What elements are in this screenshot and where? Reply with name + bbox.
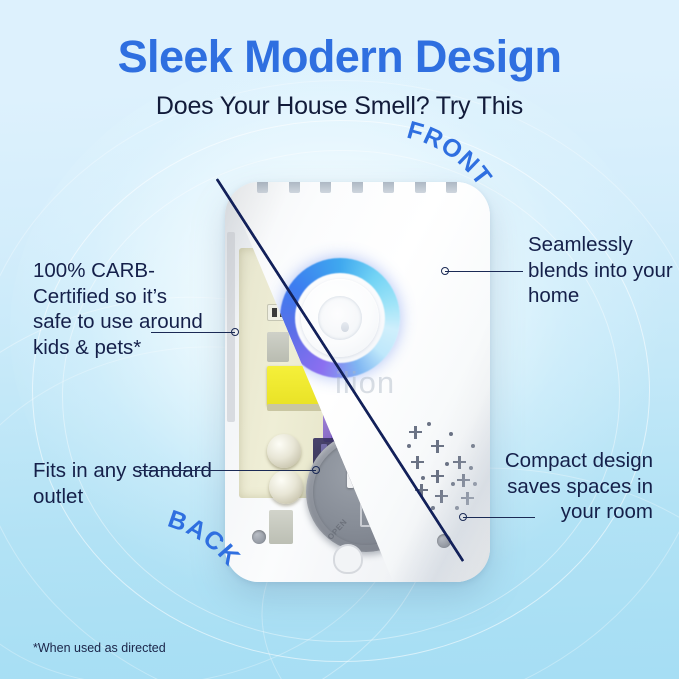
leader-dot-outlet xyxy=(312,466,320,474)
vent-slot xyxy=(352,182,363,193)
infographic-canvas: Sleek Modern Design Does Your House Smel… xyxy=(0,0,679,679)
resistor-block xyxy=(267,332,289,362)
vent-slot xyxy=(257,182,268,193)
transformer-base xyxy=(267,404,325,411)
callout-blends-into-home: Seamlessly blends into your home xyxy=(528,232,673,309)
label-back: BACK xyxy=(150,500,340,679)
leader-line-compact xyxy=(463,517,535,518)
svg-text:BACK: BACK xyxy=(164,505,245,572)
leader-line-carb xyxy=(151,332,235,333)
leader-line-outlet xyxy=(139,470,316,471)
footnote: *When used as directed xyxy=(33,641,166,655)
capacitor-large-1 xyxy=(267,434,301,468)
vent-slot xyxy=(320,182,331,193)
leader-dot-carb xyxy=(231,328,239,336)
vent-slot xyxy=(289,182,300,193)
callout-carb-certified: 100% CARB-Certified so it’s safe to use … xyxy=(33,258,208,360)
page-subtitle: Does Your House Smell? Try This xyxy=(0,92,679,121)
leader-line-blend xyxy=(445,271,523,272)
callout-compact-design: Compact design saves spaces in your room xyxy=(490,448,653,525)
capacitor-large-2 xyxy=(269,470,303,504)
page-title: Sleek Modern Design xyxy=(0,31,679,83)
leader-dot-blend xyxy=(441,267,449,275)
back-label-text: BACK xyxy=(164,505,245,572)
board-edge xyxy=(227,232,235,422)
leader-dot-compact xyxy=(459,513,467,521)
callout-standard-outlet: Fits in any standard outlet xyxy=(33,458,228,509)
